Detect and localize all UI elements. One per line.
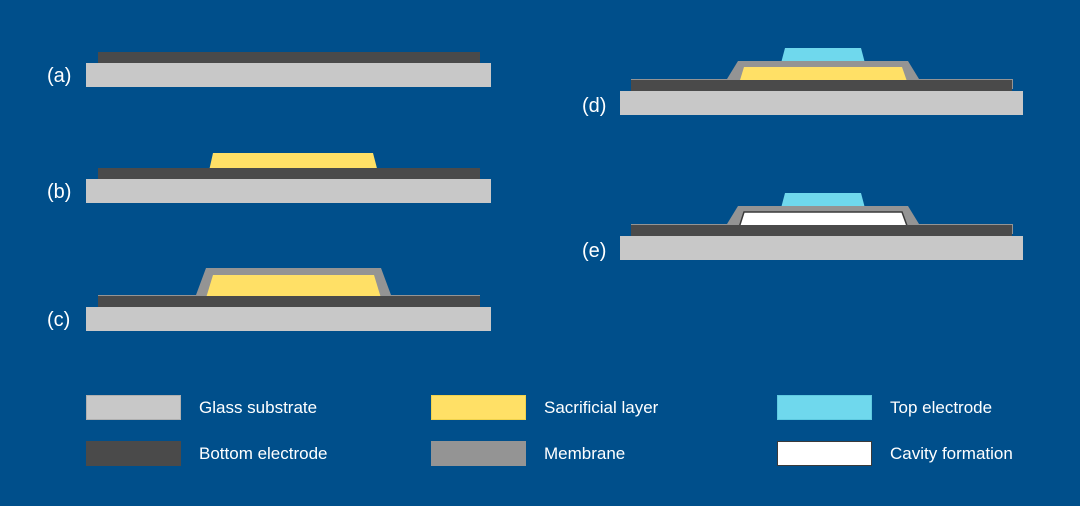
panel-b: (b) <box>47 153 491 203</box>
panel-e: (e) <box>582 193 1023 262</box>
process-flow-diagram: (a) (b) (c) (d) <box>0 0 1080 506</box>
legend-item-membrane: Membrane <box>431 441 625 466</box>
panel-c-label: (c) <box>47 309 70 331</box>
legend-item-cavity-formation: Cavity formation <box>777 441 1013 466</box>
legend-item-glass-substrate: Glass substrate <box>86 395 317 420</box>
panel-d: (d) <box>582 48 1023 117</box>
panel-b-glass-substrate <box>86 179 491 203</box>
legend-swatch-top-electrode <box>777 395 872 420</box>
panel-e-glass-substrate <box>620 236 1023 260</box>
panel-e-label: (e) <box>582 240 606 262</box>
panel-d-bottom-electrode <box>631 80 1012 91</box>
figure-canvas: (a) (b) (c) (d) <box>0 0 1080 506</box>
panel-c-bottom-electrode <box>98 296 480 307</box>
legend-swatch-cavity-formation <box>777 441 872 466</box>
legend-swatch-membrane <box>431 441 526 466</box>
legend-item-sacrificial-layer: Sacrificial layer <box>431 395 658 420</box>
panel-b-label: (b) <box>47 181 71 203</box>
panel-d-label: (d) <box>582 95 606 117</box>
panel-a-glass-substrate <box>86 63 491 87</box>
legend-swatch-bottom-electrode <box>86 441 181 466</box>
panel-d-glass-substrate <box>620 91 1023 115</box>
panel-a: (a) <box>47 52 491 87</box>
legend-item-bottom-electrode: Bottom electrode <box>86 441 328 466</box>
legend-label-membrane: Membrane <box>544 445 625 462</box>
panel-c-glass-substrate <box>86 307 491 331</box>
panel-c-sacrificial-layer <box>206 275 381 298</box>
legend-label-bottom-electrode: Bottom electrode <box>199 445 328 462</box>
legend-swatch-sacrificial-layer <box>431 395 526 420</box>
panel-e-bottom-electrode <box>631 225 1012 236</box>
legend-label-top-electrode: Top electrode <box>890 399 992 416</box>
panel-c: (c) <box>47 268 491 331</box>
panel-b-bottom-electrode <box>98 168 480 179</box>
legend-label-glass-substrate: Glass substrate <box>199 399 317 416</box>
legend-item-top-electrode: Top electrode <box>777 395 992 420</box>
legend-swatch-glass-substrate <box>86 395 181 420</box>
panel-a-label: (a) <box>47 65 71 87</box>
panel-a-bottom-electrode <box>98 52 480 63</box>
legend-label-cavity-formation: Cavity formation <box>890 445 1013 462</box>
legend-label-sacrificial-layer: Sacrificial layer <box>544 399 658 416</box>
